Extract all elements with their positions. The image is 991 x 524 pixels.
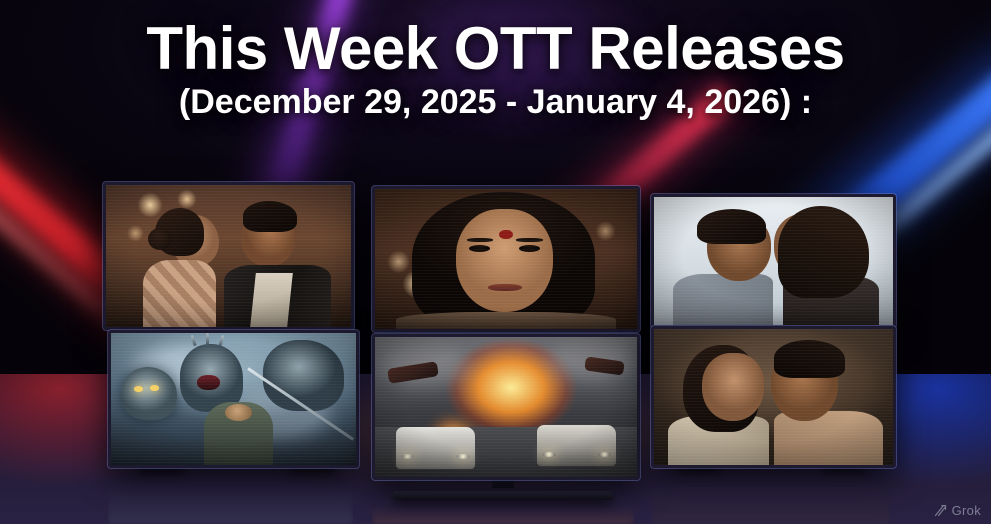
tv-bottom-center[interactable] — [372, 334, 634, 474]
tv-screen-top-right — [654, 197, 893, 325]
tv-panel — [103, 182, 354, 330]
tv-screen-bottom-left — [111, 333, 356, 465]
screen-scanlines — [111, 333, 356, 465]
grok-watermark: Grok — [933, 503, 981, 518]
grok-logo-icon — [933, 503, 948, 518]
page-subtitle: (December 29, 2025 - January 4, 2026) : — [0, 85, 991, 121]
tv-top-left[interactable] — [103, 182, 348, 324]
reflection-right — [651, 468, 890, 524]
stand-base — [393, 491, 613, 500]
watermark-label: Grok — [952, 503, 981, 518]
tv-panel — [372, 186, 640, 332]
tv-screen-top-center — [375, 189, 637, 329]
page-title: This Week OTT Releases — [0, 18, 991, 79]
screen-scanlines — [106, 185, 351, 327]
screen-scanlines — [375, 337, 637, 477]
screen-scanlines — [375, 189, 637, 329]
tv-bottom-left[interactable] — [108, 330, 353, 462]
headline-block: This Week OTT Releases (December 29, 202… — [0, 18, 991, 121]
tv-panel — [651, 326, 896, 468]
ott-releases-poster: This Week OTT Releases (December 29, 202… — [0, 0, 991, 524]
tv-screen-bottom-center — [375, 337, 637, 477]
screen-scanlines — [654, 197, 893, 325]
tv-screen-bottom-right — [654, 329, 893, 465]
reflection-left — [108, 470, 353, 524]
tv-top-right[interactable] — [651, 194, 890, 322]
tv-screen-top-left — [106, 185, 351, 327]
tv-bottom-right[interactable] — [651, 326, 890, 462]
screen-scanlines — [654, 329, 893, 465]
reflection-center — [372, 500, 634, 524]
tv-top-center[interactable] — [372, 186, 634, 326]
tv-panel — [108, 330, 359, 468]
tv-panel — [372, 334, 640, 480]
tv-panel — [651, 194, 896, 328]
